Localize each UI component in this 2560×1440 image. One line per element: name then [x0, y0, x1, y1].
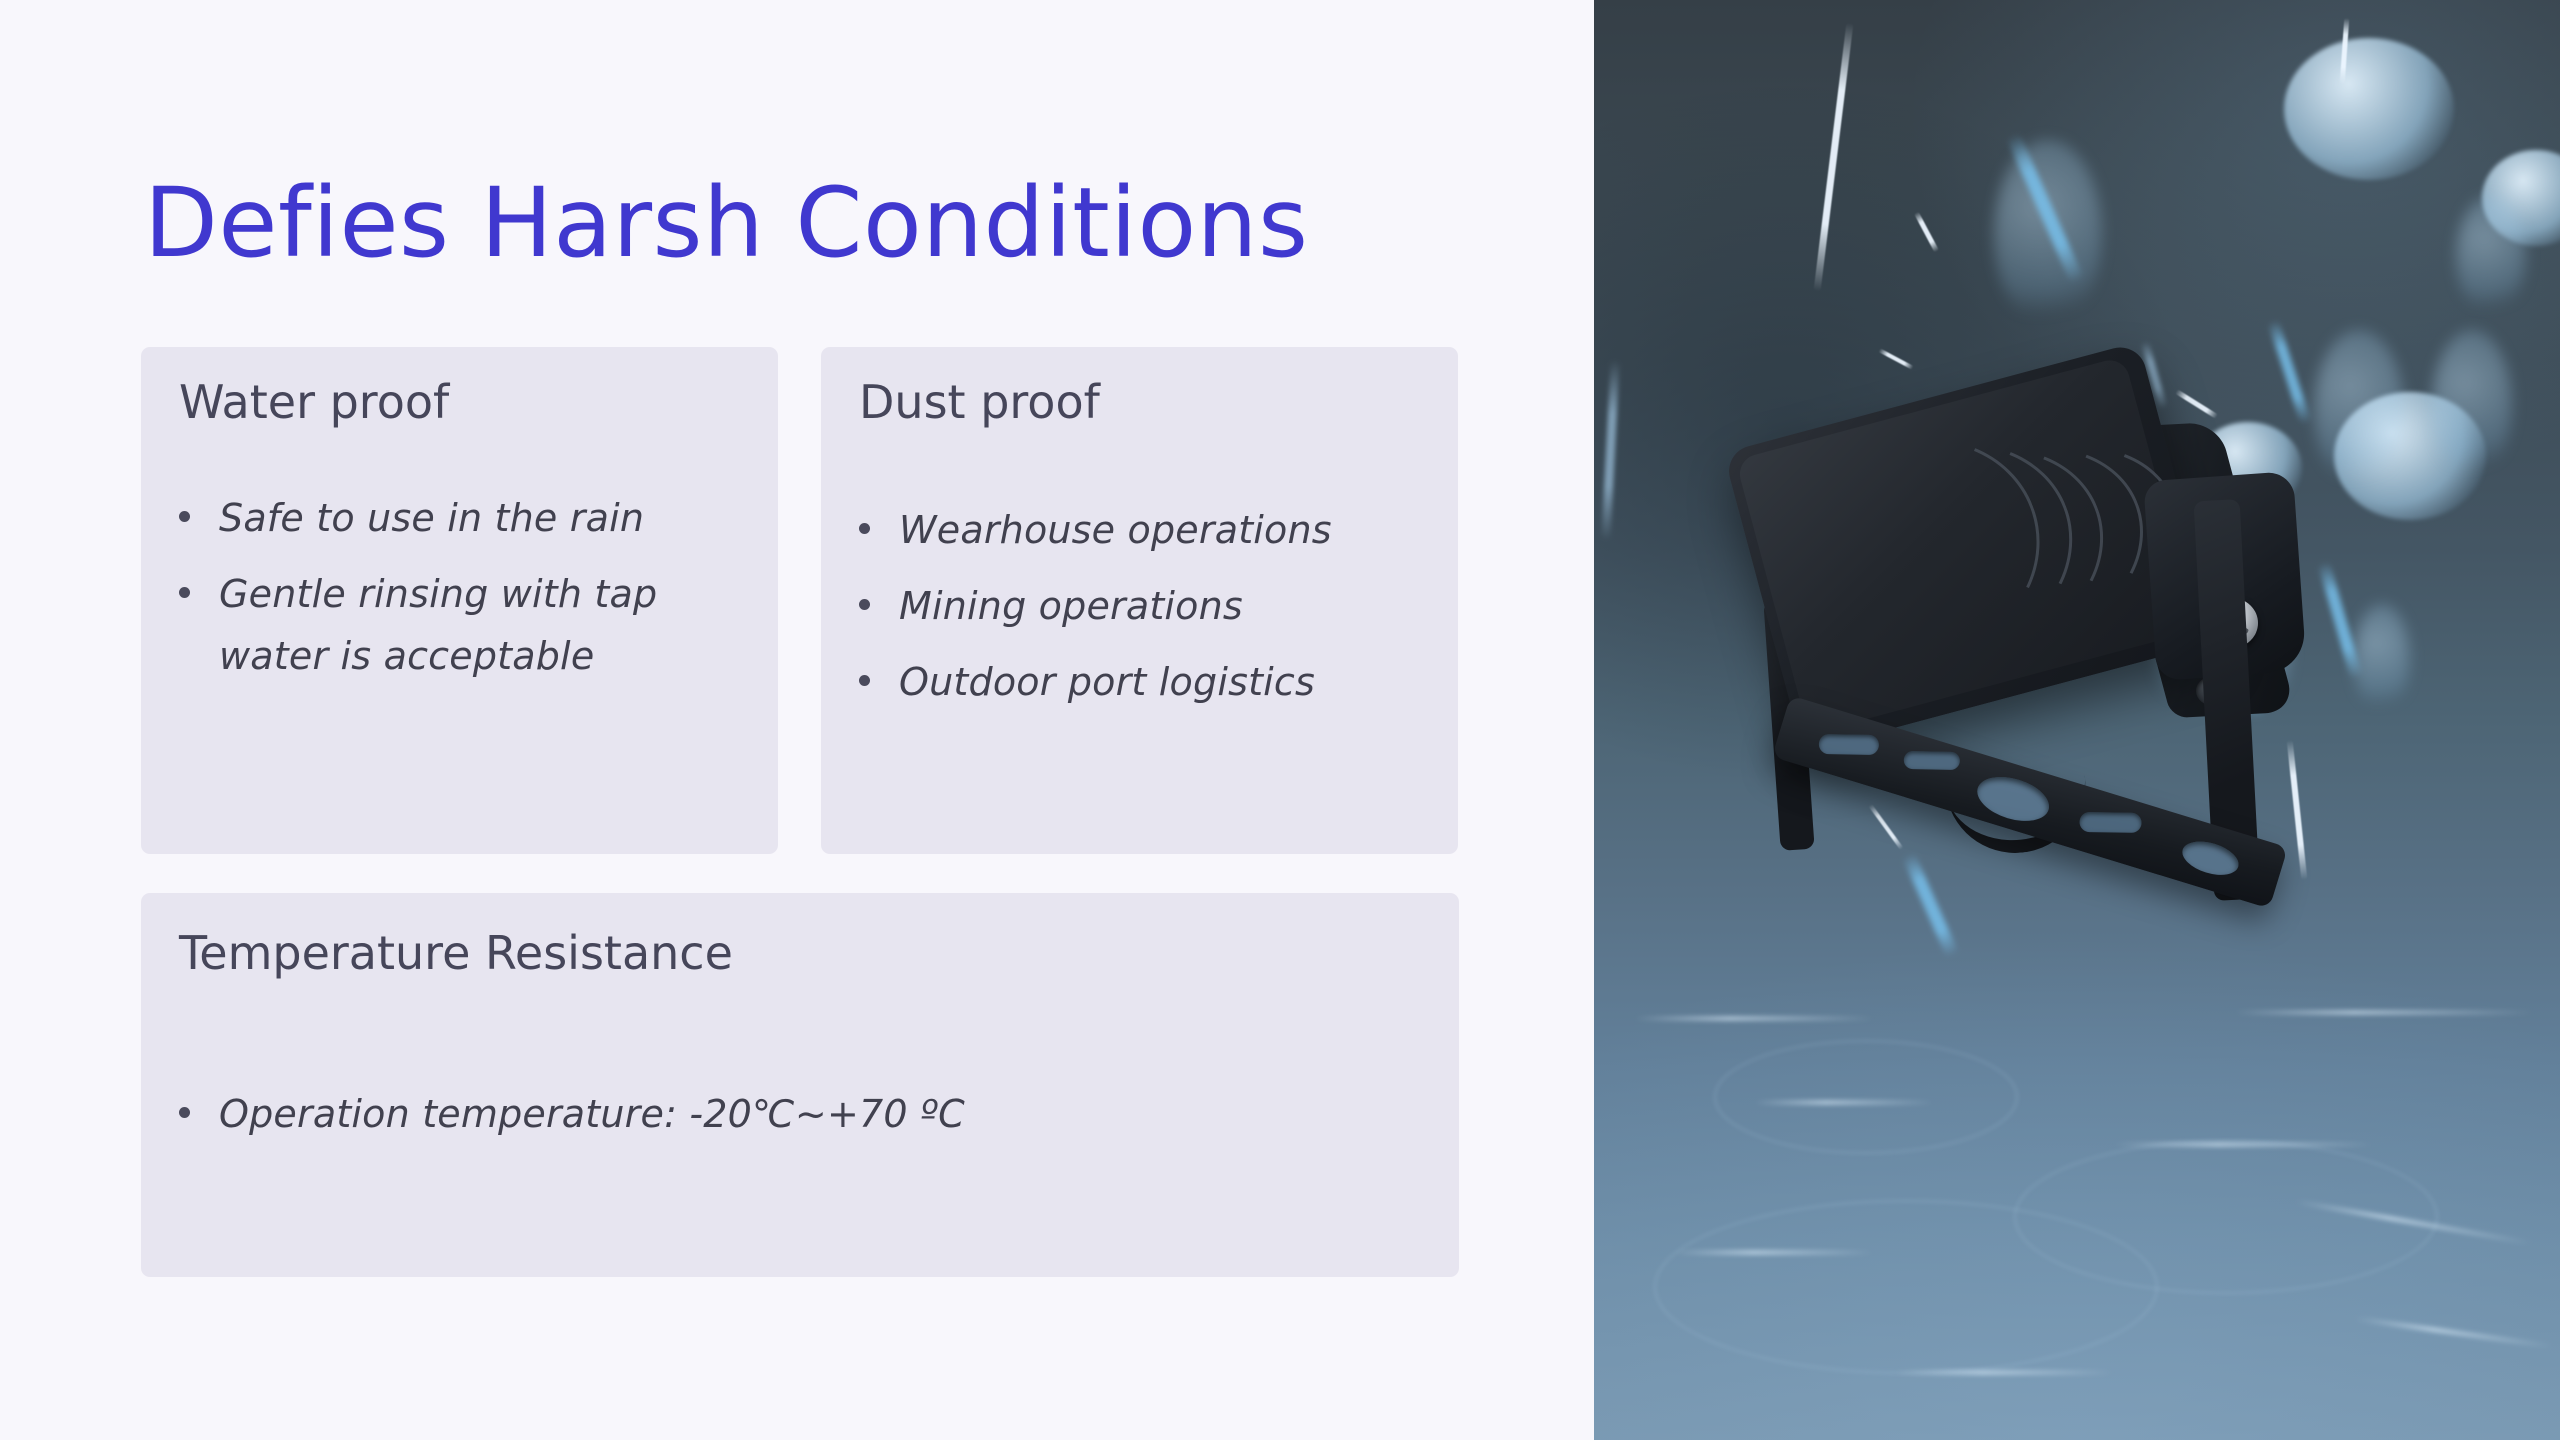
bullet-dot-icon [847, 575, 899, 637]
content-column: Defies Harsh Conditions Water proof Safe… [0, 0, 1594, 1440]
list-item: Operation temperature: -20℃~+70 ºC [167, 1083, 1441, 1145]
bullet-dot-icon [847, 499, 899, 561]
bracket-slot [2079, 812, 2141, 833]
list-item: Wearhouse operations [847, 499, 1440, 561]
card-title-water-proof: Water proof [179, 374, 449, 430]
bullet-text: Gentle rinsing with tap water is accepta… [219, 563, 760, 687]
list-item: Safe to use in the rain [167, 487, 760, 549]
bracket-slot [1819, 734, 1879, 755]
product-photo [1594, 0, 2560, 1440]
card-temperature-resistance: Temperature Resistance Operation tempera… [141, 893, 1459, 1277]
camera-face-panel [1735, 356, 2197, 734]
card-water-proof: Water proof Safe to use in the rain Gent… [141, 347, 778, 854]
bracket-slot [1904, 751, 1960, 770]
bullet-list-dust-proof: Wearhouse operations Mining operations O… [847, 499, 1440, 727]
bullet-dot-icon [167, 487, 219, 549]
bullet-list-temperature-resistance: Operation temperature: -20℃~+70 ºC [167, 1083, 1441, 1159]
page-title: Defies Harsh Conditions [144, 168, 1309, 278]
card-dust-proof: Dust proof Wearhouse operations Mining o… [821, 347, 1458, 854]
bullet-text: Operation temperature: -20℃~+70 ºC [219, 1083, 1441, 1145]
bullet-text: Wearhouse operations [899, 499, 1440, 561]
bullet-text: Safe to use in the rain [219, 487, 760, 549]
slide-root: Defies Harsh Conditions Water proof Safe… [0, 0, 2560, 1440]
bracket-mount-hole [1972, 769, 2054, 829]
list-item: Gentle rinsing with tap water is accepta… [167, 563, 760, 687]
list-item: Mining operations [847, 575, 1440, 637]
camera-product-illustration [1594, 0, 2560, 1440]
bullet-dot-icon [847, 651, 899, 713]
bullet-text: Outdoor port logistics [899, 651, 1440, 713]
list-item: Outdoor port logistics [847, 651, 1440, 713]
bullet-dot-icon [167, 563, 219, 625]
bracket-mount-hole [2178, 835, 2242, 881]
camera-housing-front [1723, 342, 2219, 753]
card-title-temperature-resistance: Temperature Resistance [179, 925, 733, 981]
bullet-list-water-proof: Safe to use in the rain Gentle rinsing w… [167, 487, 760, 701]
bullet-dot-icon [167, 1083, 219, 1145]
bullet-text: Mining operations [899, 575, 1440, 637]
card-title-dust-proof: Dust proof [859, 374, 1100, 430]
